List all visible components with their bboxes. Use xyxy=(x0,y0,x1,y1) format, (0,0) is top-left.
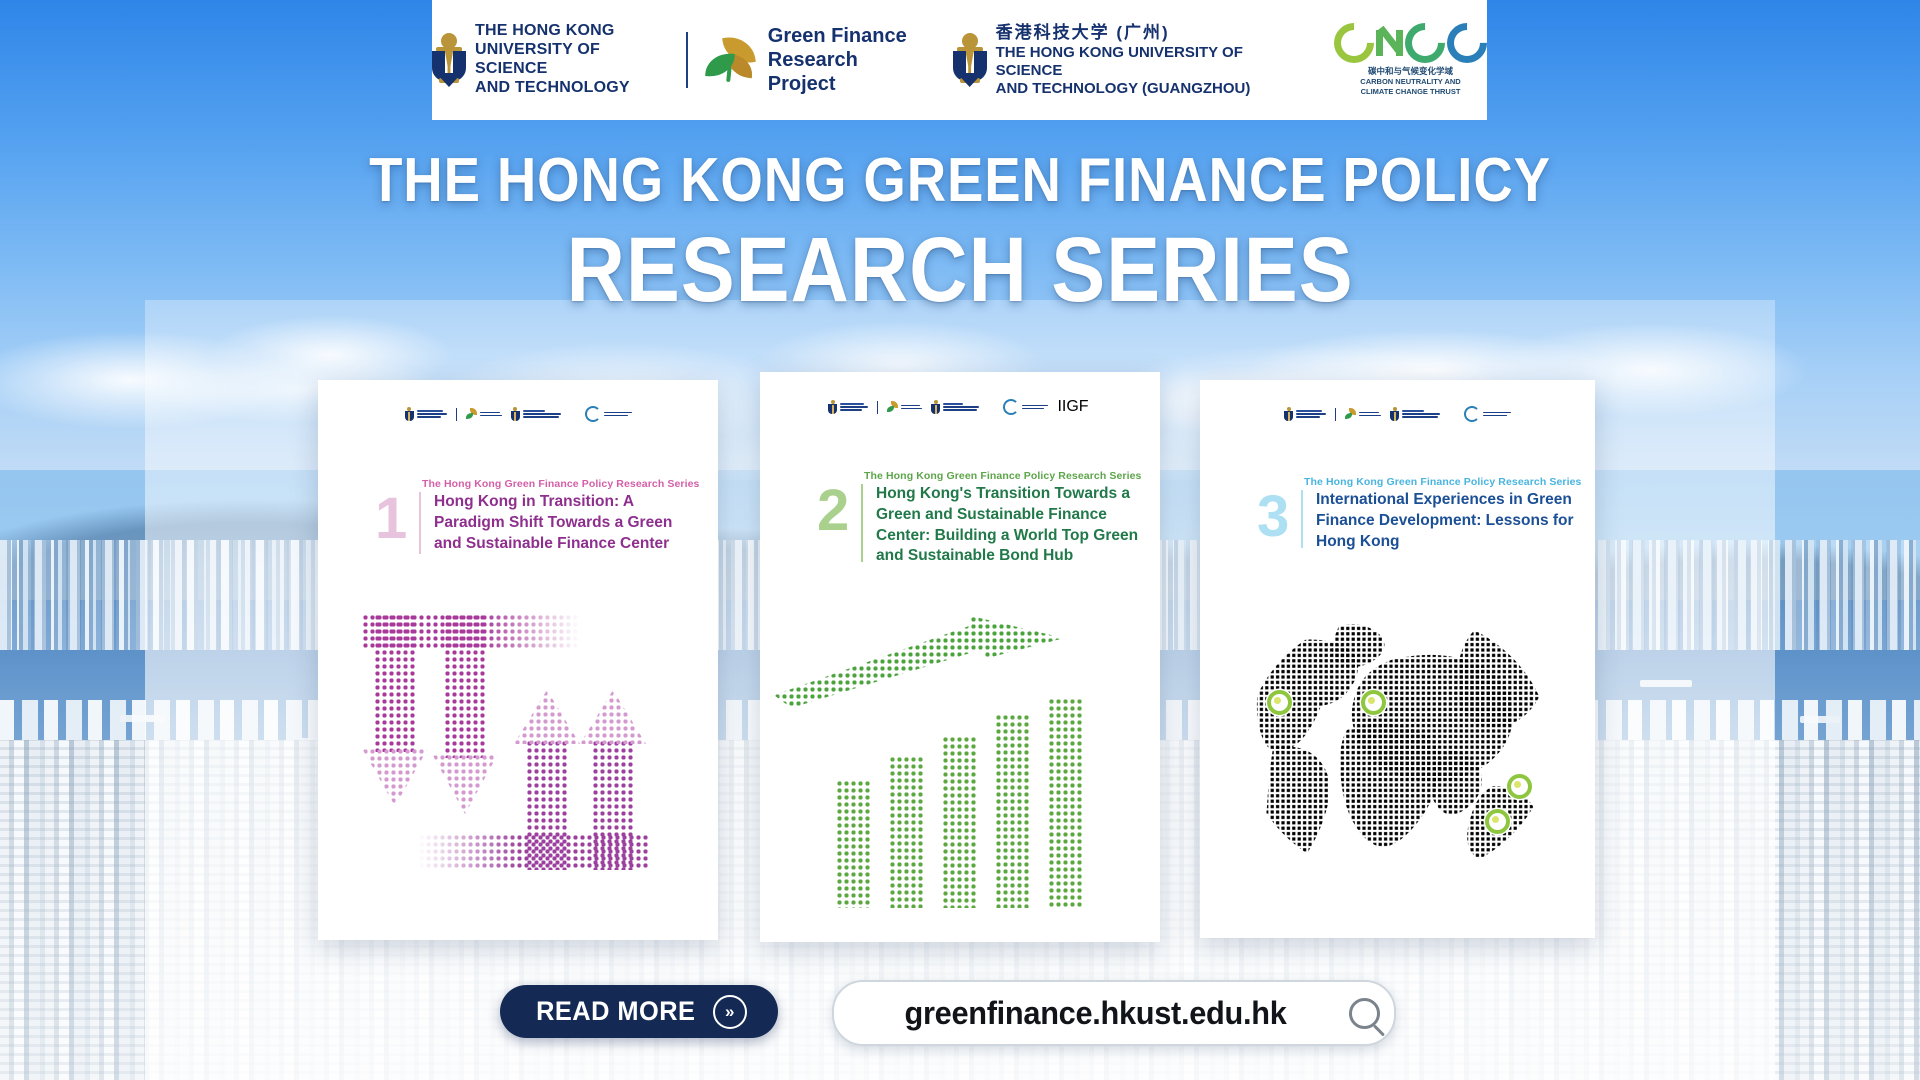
map-marker-europe xyxy=(1361,690,1386,715)
read-more-button[interactable]: READ MORE » xyxy=(500,985,778,1038)
card-1-artwork-halftone-arrows xyxy=(318,606,718,906)
mini-partner-logo xyxy=(1003,399,1048,415)
trend-arrow-icon xyxy=(774,616,1064,708)
bar-5 xyxy=(1048,698,1084,908)
card-2-number: 2 xyxy=(817,482,849,540)
chevron-right-icon: » xyxy=(713,995,747,1029)
card-2-rule xyxy=(861,484,863,562)
read-more-label: READ MORE xyxy=(536,996,695,1027)
logo-divider xyxy=(686,32,688,88)
header-logo-band: THE HONG KONG UNIVERSITY OF SCIENCE AND … xyxy=(432,0,1487,120)
bar-4 xyxy=(995,714,1031,908)
card-1-title: Hong Kong in Transition: A Paradigm Shif… xyxy=(434,492,694,554)
mini-hkust-gz-logo xyxy=(1390,407,1440,422)
card-3-artwork-world-map xyxy=(1200,604,1595,904)
card-3-logo-strip xyxy=(1200,406,1595,422)
mini-iigf-logo: IIGF xyxy=(1057,398,1091,416)
search-icon[interactable] xyxy=(1334,998,1394,1029)
dotted-world-map-icon xyxy=(1243,610,1553,882)
map-marker-australia xyxy=(1485,809,1510,834)
bar-chart xyxy=(760,698,1160,908)
mini-hkust-gz-logo xyxy=(931,400,979,415)
report-cards: The Hong Kong Green Finance Policy Resea… xyxy=(0,0,1920,1080)
bar-2 xyxy=(889,756,925,908)
card-1-kicker: The Hong Kong Green Finance Policy Resea… xyxy=(422,478,700,490)
leaf-icon xyxy=(706,36,758,84)
card-3-number: 3 xyxy=(1257,488,1289,546)
card-1-logo-strip xyxy=(318,406,718,422)
card-2-kicker: The Hong Kong Green Finance Policy Resea… xyxy=(864,470,1142,482)
mini-hkust-logo xyxy=(828,400,868,415)
mini-hkust-logo xyxy=(405,407,447,422)
hkust-gz-logo-text: 香港科技大学 (广州) THE HONG KONG UNIVERSITY OF … xyxy=(996,22,1300,97)
mini-partner-logo xyxy=(1464,406,1511,422)
card-2-logo-strip: IIGF xyxy=(760,398,1160,416)
map-marker-north-america xyxy=(1267,690,1292,715)
mini-divider xyxy=(877,401,878,414)
map-marker-hong-kong xyxy=(1507,774,1532,799)
poster-root: THE HONG KONG UNIVERSITY OF SCIENCE AND … xyxy=(0,0,1920,1080)
cncc-wordmark-icon xyxy=(1334,23,1487,63)
hkust-logo: THE HONG KONG UNIVERSITY OF SCIENCE AND … xyxy=(432,22,668,98)
mini-divider xyxy=(456,408,457,421)
gfrp-logo-text: Green Finance Research Project xyxy=(768,24,923,96)
hkust-guangzhou-logo: 香港科技大学 (广州) THE HONG KONG UNIVERSITY OF … xyxy=(953,22,1300,97)
mini-gfrp-logo xyxy=(466,408,502,420)
mini-gfrp-logo xyxy=(887,401,922,413)
hkust-gz-emblem-icon xyxy=(953,33,987,87)
cncc-logo: 碳中和与气候变化学域 CARBON NEUTRALITY AND CLIMATE… xyxy=(1334,23,1487,98)
card-3-title: International Experiences in Green Finan… xyxy=(1316,490,1576,552)
report-card-3[interactable]: The Hong Kong Green Finance Policy Resea… xyxy=(1200,380,1595,938)
card-3-rule xyxy=(1301,490,1303,548)
mini-hkust-logo xyxy=(1284,407,1326,422)
website-url-bar[interactable]: greenfinance.hkust.edu.hk xyxy=(832,980,1396,1046)
card-1-rule xyxy=(419,492,421,554)
card-2-title: Hong Kong's Transition Towards a Green a… xyxy=(876,484,1146,567)
hkust-logo-text: THE HONG KONG UNIVERSITY OF SCIENCE AND … xyxy=(475,22,668,98)
mini-divider xyxy=(1335,408,1336,421)
cncc-subtitle: 碳中和与气候变化学域 CARBON NEUTRALITY AND CLIMATE… xyxy=(1360,66,1460,98)
report-card-2[interactable]: IIGF The Hong Kong Green Finance Policy … xyxy=(760,372,1160,942)
bar-1 xyxy=(836,780,872,908)
footer-bar: READ MORE » greenfinance.hkust.edu.hk xyxy=(0,985,1920,1055)
card-1-number: 1 xyxy=(375,490,407,548)
bar-3 xyxy=(942,736,978,908)
card-2-artwork-halftone-bar-chart xyxy=(760,608,1160,908)
website-url-text: greenfinance.hkust.edu.hk xyxy=(844,995,1324,1032)
mini-hkust-gz-logo xyxy=(511,407,561,422)
green-finance-research-project-logo: Green Finance Research Project xyxy=(706,24,923,96)
card-3-kicker: The Hong Kong Green Finance Policy Resea… xyxy=(1304,476,1582,488)
report-card-1[interactable]: The Hong Kong Green Finance Policy Resea… xyxy=(318,380,718,940)
mini-gfrp-logo xyxy=(1345,408,1381,420)
mini-partner-logo xyxy=(585,406,632,422)
hkust-emblem-icon xyxy=(432,33,466,87)
